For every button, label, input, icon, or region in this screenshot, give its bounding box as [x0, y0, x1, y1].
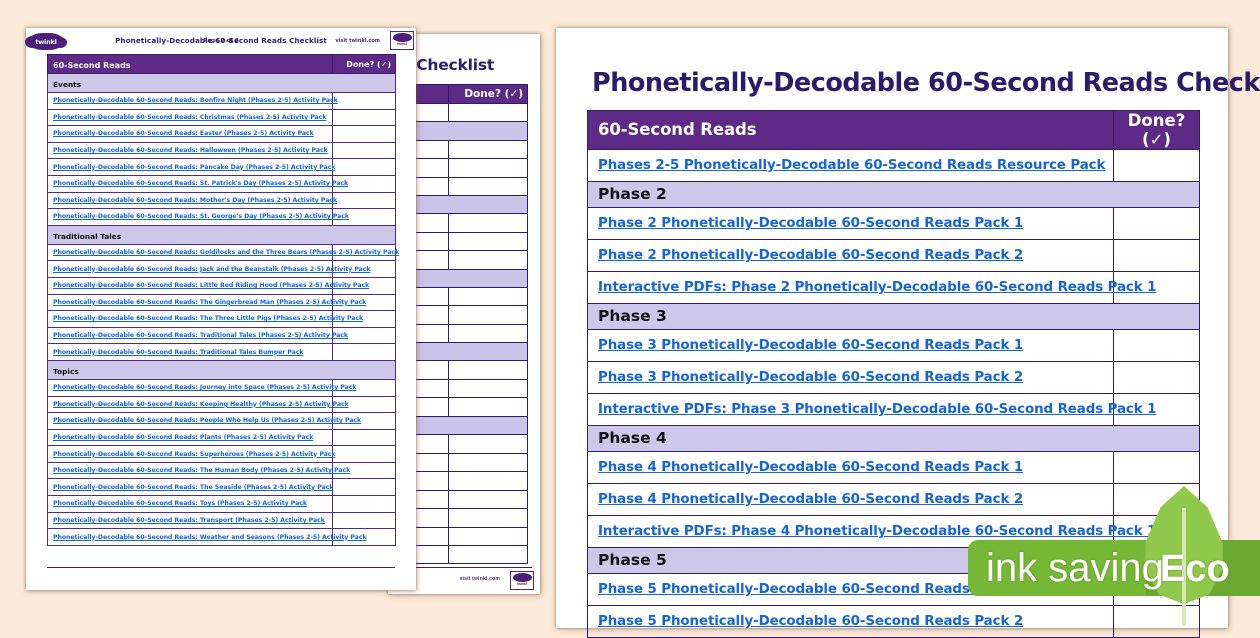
column-header-reads: 60-Second Reads [588, 111, 1114, 150]
resource-link-cell[interactable]: Interactive PDFs: Phase 2 Phonetically-D… [588, 272, 1114, 304]
resource-link[interactable]: Phase 2 Phonetically-Decodable 60-Second… [588, 248, 1113, 263]
middle-section-header-cell [397, 416, 528, 434]
resource-link[interactable]: Phonetically-Decodable 60-Second Reads: … [48, 299, 332, 306]
middle-table-row [397, 398, 528, 416]
section-header-label: Traditional Tales [48, 232, 121, 241]
section-header-label: Phase 5 [588, 551, 667, 569]
middle-table-row [397, 361, 528, 379]
resource-link-cell[interactable]: Phase 3 Phonetically-Decodable 60-Second… [588, 330, 1114, 362]
middle-table-row [397, 509, 528, 527]
resource-link[interactable]: Phonetically-Decodable 60-Second Reads: … [48, 164, 332, 171]
table-row: Phonetically-Decodable 60-Second Reads: … [48, 142, 396, 159]
table-row: Phases 2-5 Phonetically-Decodable 60-Sec… [588, 150, 1200, 182]
middle-section-header-row [397, 416, 528, 434]
resource-link[interactable]: Phonetically-Decodable 60-Second Reads: … [48, 484, 332, 491]
middle-done-checkbox-cell[interactable] [449, 435, 528, 454]
resource-link[interactable]: Phonetically-Decodable 60-Second Reads: … [48, 180, 332, 187]
resource-link[interactable]: Phonetically-Decodable 60-Second Reads: … [48, 434, 332, 441]
resource-link[interactable]: Phonetically-Decodable 60-Second Reads: … [48, 384, 332, 391]
middle-done-checkbox-cell[interactable] [449, 104, 528, 122]
middle-done-checkbox-cell[interactable] [449, 140, 528, 158]
resource-link[interactable]: Phonetically-Decodable 60-Second Reads: … [48, 517, 332, 524]
table-row: Phonetically-Decodable 60-Second Reads: … [48, 446, 396, 463]
done-checkbox-cell[interactable] [333, 192, 396, 209]
left-page-footer: twinkl Page 2 of 2 visit twinkl.com twin… [26, 31, 416, 51]
ink-saving-eco-badge: ink saving Eco [968, 478, 1260, 630]
badge-caption: twinkl [391, 42, 413, 46]
middle-table-row [397, 379, 528, 397]
table-row: Phonetically-Decodable 60-Second Reads: … [48, 496, 396, 513]
resource-link[interactable]: Phonetically-Decodable 60-Second Reads: … [48, 315, 332, 322]
middle-table-row [397, 306, 528, 324]
done-checkbox-cell[interactable] [1114, 208, 1200, 240]
resource-link-cell[interactable]: Phonetically-Decodable 60-Second Reads: … [48, 379, 333, 396]
visit-twinkl-link[interactable]: visit twinkl.com [335, 38, 380, 44]
table-row: Phonetically-Decodable 60-Second Reads: … [48, 294, 396, 311]
middle-section-header-cell [397, 269, 528, 287]
resource-link-cell[interactable]: Phonetically-Decodable 60-Second Reads: … [48, 529, 333, 546]
middle-done-checkbox-cell[interactable] [449, 287, 528, 305]
done-checkbox-cell[interactable] [333, 446, 396, 463]
table-row: Phonetically-Decodable 60-Second Reads: … [48, 277, 396, 294]
resource-link[interactable]: Phase 4 Phonetically-Decodable 60-Second… [588, 460, 1113, 475]
resource-link[interactable]: Phonetically-Decodable 60-Second Reads: … [48, 114, 332, 121]
section-header-row: Phase 2 [588, 182, 1200, 208]
resource-link[interactable]: Interactive PDFs: Phase 3 Phonetically-D… [588, 402, 1113, 417]
resource-link[interactable]: Phonetically-Decodable 60-Second Reads: … [48, 534, 332, 541]
middle-done-checkbox-cell[interactable] [449, 177, 528, 195]
middle-table-row [397, 140, 528, 158]
ink-saving-label: ink saving [986, 546, 1164, 591]
middle-done-checkbox-cell[interactable] [449, 490, 528, 508]
page-title: Phonetically-Decodable 60-Second Reads C… [592, 68, 1260, 98]
table-row: Phonetically-Decodable 60-Second Reads: … [48, 429, 396, 446]
middle-done-checkbox-cell[interactable] [449, 527, 528, 545]
middle-table-row [397, 232, 528, 250]
section-header-cell: Traditional Tales [48, 225, 396, 244]
resource-link[interactable]: Phases 2-5 Phonetically-Decodable 60-Sec… [588, 158, 1113, 173]
twinkl-badge-icon: twinkl [390, 31, 414, 50]
resource-link-cell[interactable]: Phonetically-Decodable 60-Second Reads: … [48, 311, 333, 328]
table-row: Phonetically-Decodable 60-Second Reads: … [48, 396, 396, 413]
middle-done-checkbox-cell[interactable] [449, 214, 528, 232]
resource-link-cell[interactable]: Phonetically-Decodable 60-Second Reads: … [48, 142, 333, 159]
resource-link-cell[interactable]: Phases 2-5 Phonetically-Decodable 60-Sec… [588, 150, 1114, 182]
table-row: Interactive PDFs: Phase 2 Phonetically-D… [588, 272, 1200, 304]
middle-done-checkbox-cell[interactable] [449, 159, 528, 177]
resource-link-cell[interactable]: Phonetically-Decodable 60-Second Reads: … [48, 209, 333, 226]
resource-link[interactable]: Phonetically-Decodable 60-Second Reads: … [48, 417, 332, 424]
section-header-row: Phase 3 [588, 304, 1200, 330]
resource-link-cell[interactable]: Phonetically-Decodable 60-Second Reads: … [48, 512, 333, 529]
done-checkbox-cell[interactable] [333, 512, 396, 529]
done-checkbox-cell[interactable] [333, 344, 396, 361]
twinkl-logo-icon[interactable]: twinkl [28, 33, 64, 50]
table-row: Phonetically-Decodable 60-Second Reads: … [48, 109, 396, 126]
resource-link-cell[interactable]: Phonetically-Decodable 60-Second Reads: … [48, 429, 333, 446]
badge-caption: twinkl [511, 582, 533, 586]
done-checkbox-cell[interactable] [333, 429, 396, 446]
resource-link[interactable]: Phonetically-Decodable 60-Second Reads: … [48, 249, 332, 256]
resource-link-cell[interactable]: Phonetically-Decodable 60-Second Reads: … [48, 261, 333, 278]
table-row: Phonetically-Decodable 60-Second Reads: … [48, 159, 396, 176]
middle-section-header-cell [397, 122, 528, 140]
resource-link[interactable]: Phonetically-Decodable 60-Second Reads: … [48, 147, 332, 154]
done-checkbox-cell[interactable] [1114, 240, 1200, 272]
badge-cloud-shape [513, 573, 532, 582]
middle-section-header-row [397, 343, 528, 361]
section-header-cell: Phase 4 [588, 426, 1200, 452]
table-row: Phonetically-Decodable 60-Second Reads: … [48, 209, 396, 226]
resource-link[interactable]: Phase 3 Phonetically-Decodable 60-Second… [588, 338, 1113, 353]
resource-link-cell[interactable]: Phonetically-Decodable 60-Second Reads: … [48, 175, 333, 192]
table-row: Phase 3 Phonetically-Decodable 60-Second… [588, 362, 1200, 394]
left-page-sheet: Phonetically-Decodable 60-Second Reads C… [26, 28, 416, 590]
resource-link[interactable]: Phonetically-Decodable 60-Second Reads: … [48, 467, 332, 474]
table-row: Phonetically-Decodable 60-Second Reads: … [48, 175, 396, 192]
middle-done-checkbox-cell[interactable] [449, 361, 528, 379]
resource-link[interactable]: Phonetically-Decodable 60-Second Reads: … [48, 500, 332, 507]
column-header-done: Done? (✓) [333, 55, 396, 74]
middle-table-row [397, 177, 528, 195]
section-header-label: Phase 2 [588, 185, 667, 203]
done-checkbox-cell[interactable] [333, 109, 396, 126]
column-header-done-label: Done? (✓) [1114, 111, 1199, 149]
table-row: Phonetically-Decodable 60-Second Reads: … [48, 93, 396, 110]
middle-table-row [397, 214, 528, 232]
table-header-row: 60-Second ReadsDone? (✓) [588, 111, 1200, 150]
resource-link-cell[interactable]: Phonetically-Decodable 60-Second Reads: … [48, 496, 333, 513]
resource-link[interactable]: Phonetically-Decodable 60-Second Reads: … [48, 332, 332, 339]
resource-link-cell[interactable]: Interactive PDFs: Phase 3 Phonetically-D… [588, 394, 1114, 426]
middle-table-row [397, 104, 528, 122]
done-checkbox-cell[interactable] [333, 93, 396, 110]
resource-link-cell[interactable]: Phonetically-Decodable 60-Second Reads: … [48, 344, 333, 361]
middle-table-row [397, 545, 528, 563]
column-header-reads-label: 60-Second Reads [48, 61, 131, 70]
middle-table-row [397, 324, 528, 342]
resource-link[interactable]: Phase 2 Phonetically-Decodable 60-Second… [588, 216, 1113, 231]
column-header-done-label: Done? (✓) [333, 60, 395, 69]
page-number: Page 2 of 2 [203, 38, 238, 44]
section-header-row: Topics [48, 360, 396, 379]
middle-done-checkbox-cell[interactable] [449, 545, 528, 563]
middle-table-row [397, 490, 528, 508]
resource-link[interactable]: Phonetically-Decodable 60-Second Reads: … [48, 97, 332, 104]
middle-done-checkbox-cell[interactable] [449, 232, 528, 250]
section-header-label: Phase 4 [588, 429, 667, 447]
resource-link-cell[interactable]: Phonetically-Decodable 60-Second Reads: … [48, 396, 333, 413]
resource-link[interactable]: Phonetically-Decodable 60-Second Reads: … [48, 266, 332, 273]
middle-done-checkbox-cell[interactable] [449, 509, 528, 527]
resource-link[interactable]: Phonetically-Decodable 60-Second Reads: … [48, 401, 332, 408]
resource-link[interactable]: Phonetically-Decodable 60-Second Reads: … [48, 451, 332, 458]
section-header-cell: Topics [48, 360, 396, 379]
resource-link-cell[interactable]: Phonetically-Decodable 60-Second Reads: … [48, 126, 333, 143]
resource-link[interactable]: Phase 3 Phonetically-Decodable 60-Second… [588, 370, 1113, 385]
section-header-label: Events [48, 80, 81, 89]
middle-done-checkbox-cell[interactable] [449, 324, 528, 342]
middle-section-header-row [397, 269, 528, 287]
done-checkbox-cell[interactable] [1114, 330, 1200, 362]
section-header-cell: Events [48, 74, 396, 93]
twinkl-badge-icon-middle: twinkl [510, 571, 534, 590]
left-page-table-body: 60-Second ReadsDone? (✓)EventsPhonetical… [48, 55, 396, 546]
section-header-label: Phase 3 [588, 307, 667, 325]
middle-done-checkbox-cell[interactable] [449, 472, 528, 490]
table-row: Phonetically-Decodable 60-Second Reads: … [48, 379, 396, 396]
resource-link-cell[interactable]: Phonetically-Decodable 60-Second Reads: … [48, 327, 333, 344]
middle-section-header-cell [397, 343, 528, 361]
middle-section-header-cell [397, 195, 528, 213]
done-checkbox-cell[interactable] [333, 142, 396, 159]
middle-table-row [397, 527, 528, 545]
middle-table-row [397, 159, 528, 177]
resource-link-cell[interactable]: Phase 3 Phonetically-Decodable 60-Second… [588, 362, 1114, 394]
resource-link-cell[interactable]: Phonetically-Decodable 60-Second Reads: … [48, 192, 333, 209]
table-row: Phonetically-Decodable 60-Second Reads: … [48, 462, 396, 479]
table-row: Phonetically-Decodable 60-Second Reads: … [48, 529, 396, 546]
middle-table-row [397, 251, 528, 269]
middle-table-row [397, 472, 528, 490]
resource-link-cell[interactable]: Phonetically-Decodable 60-Second Reads: … [48, 413, 333, 430]
left-page-checklist-table: 60-Second ReadsDone? (✓)EventsPhonetical… [47, 54, 396, 546]
done-checkbox-cell[interactable] [333, 479, 396, 496]
resource-link[interactable]: Phonetically-Decodable 60-Second Reads: … [48, 282, 332, 289]
column-header-reads: 60-Second Reads [48, 55, 333, 74]
resource-link[interactable]: Phonetically-Decodable 60-Second Reads: … [48, 130, 332, 137]
table-row: Phonetically-Decodable 60-Second Reads: … [48, 126, 396, 143]
middle-page-visit-text: visit twinkl.com [460, 576, 500, 582]
resource-link-cell[interactable]: Phonetically-Decodable 60-Second Reads: … [48, 244, 333, 261]
resource-link[interactable]: Phonetically-Decodable 60-Second Reads: … [48, 213, 332, 220]
section-header-cell: Phase 2 [588, 182, 1200, 208]
section-header-cell: Phase 3 [588, 304, 1200, 330]
middle-table-row: Pack [397, 435, 528, 454]
table-row: Phonetically-Decodable 60-Second Reads: … [48, 261, 396, 278]
done-checkbox-cell[interactable] [1114, 150, 1200, 182]
table-row: Phonetically-Decodable 60-Second Reads: … [48, 311, 396, 328]
middle-done-checkbox-cell[interactable] [449, 251, 528, 269]
resource-link-cell[interactable]: Phonetically-Decodable 60-Second Reads: … [48, 446, 333, 463]
resource-link-cell[interactable]: Phase 2 Phonetically-Decodable 60-Second… [588, 208, 1114, 240]
resource-link-cell[interactable]: Phonetically-Decodable 60-Second Reads: … [48, 109, 333, 126]
middle-done-checkbox-cell[interactable] [449, 398, 528, 416]
section-header-row: Phase 4 [588, 426, 1200, 452]
done-checkbox-cell[interactable] [333, 126, 396, 143]
resource-link-cell[interactable]: Phonetically-Decodable 60-Second Reads: … [48, 93, 333, 110]
middle-table-header-row: Done? (✓) [397, 85, 528, 104]
table-row: Phonetically-Decodable 60-Second Reads: … [48, 192, 396, 209]
table-row: Phonetically-Decodable 60-Second Reads: … [48, 479, 396, 496]
table-header-row: 60-Second ReadsDone? (✓) [48, 55, 396, 74]
middle-done-checkbox-cell[interactable] [449, 379, 528, 397]
resource-link[interactable]: Phonetically-Decodable 60-Second Reads: … [48, 349, 332, 356]
table-row: Phonetically-Decodable 60-Second Reads: … [48, 344, 396, 361]
middle-column-header-done: Done? (✓) [449, 85, 528, 104]
done-checkbox-cell[interactable] [333, 496, 396, 513]
middle-section-header-row [397, 195, 528, 213]
column-header-reads-label: 60-Second Reads [588, 120, 756, 139]
resource-link-cell[interactable]: Phonetically-Decodable 60-Second Reads: … [48, 462, 333, 479]
table-row: Interactive PDFs: Phase 3 Phonetically-D… [588, 394, 1200, 426]
done-checkbox-cell[interactable] [333, 159, 396, 176]
resource-link-cell[interactable]: Phonetically-Decodable 60-Second Reads: … [48, 479, 333, 496]
eco-label: Eco [1160, 548, 1230, 591]
middle-page-table-body: Done? (✓)Pack [397, 85, 528, 564]
section-header-label: Topics [48, 367, 79, 376]
middle-page-footer-rule [396, 567, 532, 568]
badge-cloud-shape [393, 33, 412, 42]
section-header-row: Traditional Tales [48, 225, 396, 244]
section-header-row: Events [48, 74, 396, 93]
resource-link[interactable]: Phonetically-Decodable 60-Second Reads: … [48, 197, 332, 204]
table-row: Phase 2 Phonetically-Decodable 60-Second… [588, 208, 1200, 240]
table-row: Phase 3 Phonetically-Decodable 60-Second… [588, 330, 1200, 362]
left-page-footer-rule [47, 567, 395, 568]
resource-link-cell[interactable]: Phase 2 Phonetically-Decodable 60-Second… [588, 240, 1114, 272]
table-row: Phase 2 Phonetically-Decodable 60-Second… [588, 240, 1200, 272]
resource-link-cell[interactable]: Phonetically-Decodable 60-Second Reads: … [48, 159, 333, 176]
resource-link-cell[interactable]: Phonetically-Decodable 60-Second Reads: … [48, 277, 333, 294]
middle-section-header-row [397, 122, 528, 140]
middle-table-row [397, 287, 528, 305]
done-checkbox-cell[interactable] [1114, 362, 1200, 394]
logo-wordmark: twinkl [28, 33, 64, 50]
resource-link-cell[interactable]: Phonetically-Decodable 60-Second Reads: … [48, 294, 333, 311]
table-row: Phonetically-Decodable 60-Second Reads: … [48, 327, 396, 344]
column-header-done: Done? (✓) [1114, 111, 1200, 150]
resource-link[interactable]: Interactive PDFs: Phase 2 Phonetically-D… [588, 280, 1113, 295]
middle-done-checkbox-cell[interactable] [449, 306, 528, 324]
table-row: Phonetically-Decodable 60-Second Reads: … [48, 512, 396, 529]
table-row: Phonetically-Decodable 60-Second Reads: … [48, 413, 396, 430]
middle-table-row [397, 454, 528, 472]
table-row: Phonetically-Decodable 60-Second Reads: … [48, 244, 396, 261]
middle-done-checkbox-cell[interactable] [449, 454, 528, 472]
